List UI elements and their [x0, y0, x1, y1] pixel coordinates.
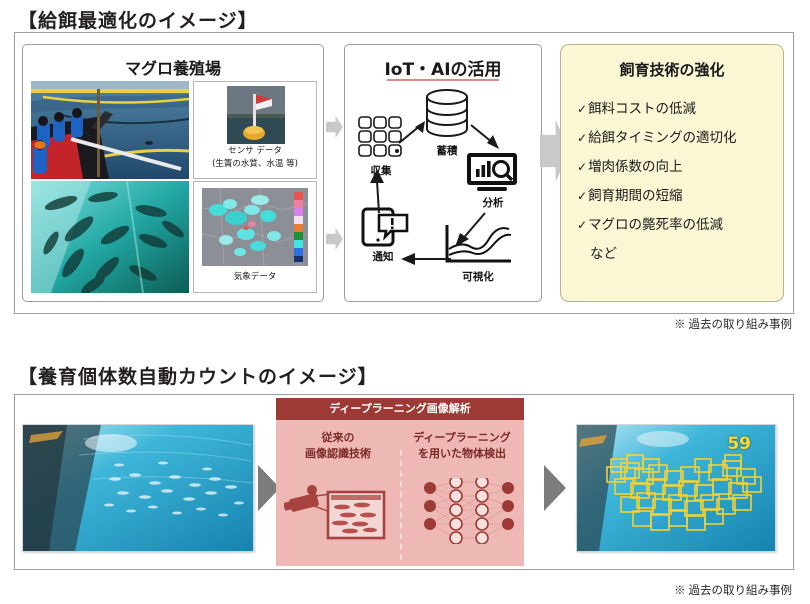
tuna-farm-boat-illustration — [31, 81, 189, 179]
panel-iot-ai-title: IoT・AIの活用 — [345, 55, 541, 80]
sensor-caption-line1: センサ データ — [194, 146, 316, 157]
outcome-item: ✓マグロの斃死率の低減 — [577, 213, 775, 233]
tuna-farm-boat-photo — [31, 81, 189, 179]
detected-fish-illustration: 59 — [577, 425, 775, 551]
section-2-heading: 【養育個体数自動カウントのイメージ】 — [18, 362, 378, 389]
title-underline — [387, 79, 499, 81]
sensor-data-block: センサ データ (生簀の水質、水温 等) — [193, 81, 317, 179]
panel-result-title: 飼育技術の強化 — [561, 59, 783, 80]
deep-learning-body: 従来の 画像認識技術 ディープラーニング を用いた物体検出 — [276, 420, 524, 566]
sensor-caption-line2: (生簀の水質、水温 等) — [194, 159, 316, 170]
arrow-notify-to-collect — [367, 165, 389, 215]
deep-learning-panel: ディープラーニング画像解析 従来の 画像認識技術 ディープラーニング を用いた物… — [276, 398, 524, 566]
outcome-etc: など — [577, 242, 775, 262]
section-1-note: ※ 過去の取り組み事例 — [674, 316, 792, 332]
panel-iot-ai: IoT・AIの活用 収集 蓄積 — [344, 44, 542, 302]
label-visualize: 可視化 — [441, 269, 515, 284]
underwater-school-photo — [22, 424, 254, 552]
deep-learning-header: ディープラーニング画像解析 — [276, 398, 524, 420]
underwater-school-illustration — [23, 425, 253, 551]
weather-data-block: 気象データ — [193, 181, 317, 293]
detected-count-badge: 59 — [727, 434, 751, 454]
dl-label-line1: ディープラーニング — [400, 430, 524, 446]
outcome-item: ✓飼育期間の短縮 — [577, 184, 775, 204]
check-icon: ✓ — [577, 102, 587, 116]
detected-fish-photo: 59 — [576, 424, 776, 552]
conventional-label-line2: 画像認識技術 — [276, 446, 400, 462]
outcome-label: 飼育期間の短縮 — [588, 188, 683, 204]
weather-radar-map — [202, 188, 308, 266]
weather-caption: 気象データ — [194, 272, 316, 283]
check-icon: ✓ — [577, 131, 587, 145]
outcome-item: ✓餌料コストの低減 — [577, 97, 775, 117]
panel-tuna-farm-title: マグロ養殖場 — [23, 55, 323, 79]
tuna-school-photo — [31, 181, 189, 293]
outcome-label: 給餌タイミングの適切化 — [588, 130, 737, 146]
deep-learning-method-column: ディープラーニング を用いた物体検出 — [400, 430, 524, 462]
check-icon: ✓ — [577, 189, 587, 203]
tuna-school-illustration — [31, 181, 189, 293]
outcome-checklist: ✓餌料コストの低減 ✓給餌タイミングの適切化 ✓増肉係数の向上 ✓飼育期間の短縮… — [577, 97, 775, 271]
outcome-label: 餌料コストの低減 — [588, 101, 696, 117]
panel-tuna-farm: マグロ養殖場 — [22, 44, 324, 302]
column-divider — [400, 450, 402, 560]
panel-breeding-improvement: 飼育技術の強化 ✓餌料コストの低減 ✓給餌タイミングの適切化 ✓増肉係数の向上 … — [560, 44, 784, 302]
conventional-method-column: 従来の 画像認識技術 — [276, 430, 400, 462]
camera-recognition-icon — [284, 482, 388, 542]
neural-network-icon — [416, 478, 520, 544]
outcome-item: ✓増肉係数の向上 — [577, 155, 775, 175]
analysis-monitor-icon — [465, 151, 521, 195]
dl-label-line2: を用いた物体検出 — [400, 446, 524, 462]
sensor-buoy-photo — [227, 86, 285, 144]
section-1-heading: 【給餌最適化のイメージ】 — [18, 6, 258, 33]
check-icon: ✓ — [577, 160, 587, 174]
arrow-store-to-analyze — [469, 121, 509, 155]
check-icon: ✓ — [577, 218, 587, 232]
outcome-item: ✓給餌タイミングの適切化 — [577, 126, 775, 146]
outcome-label: マグロの斃死率の低減 — [588, 217, 723, 233]
outcome-label: 増肉係数の向上 — [588, 159, 683, 175]
conventional-label-line1: 従来の — [276, 430, 400, 446]
flow-arrow-analysis-to-result — [544, 465, 566, 511]
arrow-visualize-to-notify — [397, 251, 453, 267]
section-2-note: ※ 過去の取り組み事例 — [674, 582, 792, 598]
arrow-collect-to-store — [395, 117, 435, 149]
